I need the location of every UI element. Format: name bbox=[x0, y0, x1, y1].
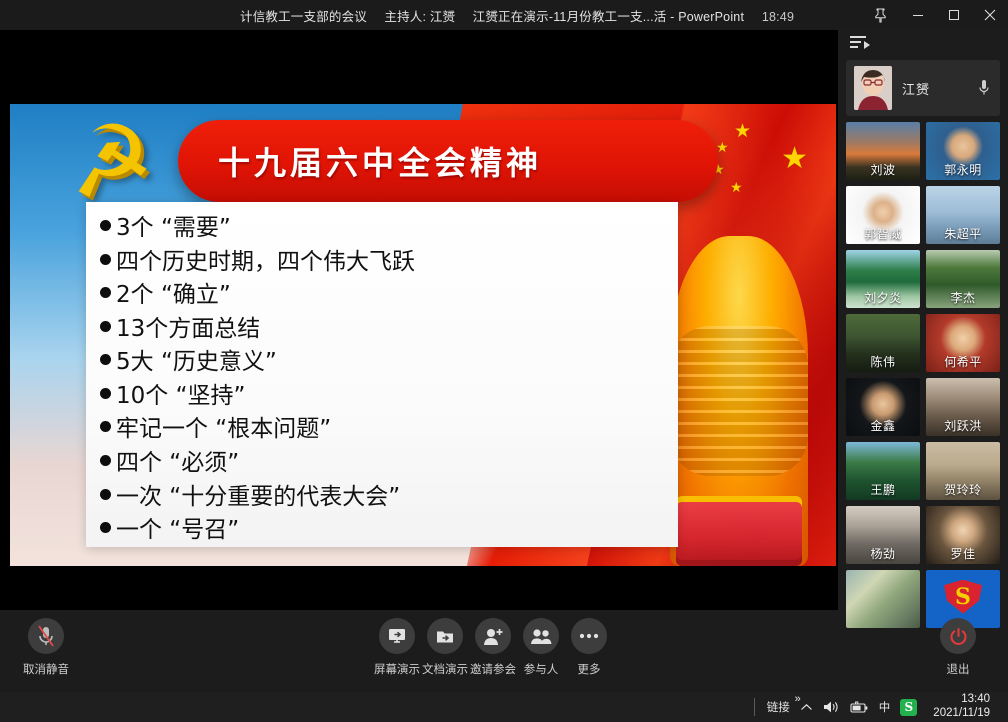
bullet-dot-icon bbox=[100, 254, 111, 265]
slide-title-banner: 十九届六中全会精神 bbox=[178, 120, 718, 202]
participant-name: 罗佳 bbox=[926, 545, 1000, 562]
share-screen-label: 屏幕演示 bbox=[374, 661, 420, 677]
minimize-icon[interactable] bbox=[900, 0, 936, 30]
list-item: 四个历史时期，四个伟大飞跃 bbox=[100, 246, 678, 280]
participant-name: 刘跃洪 bbox=[926, 417, 1000, 434]
share-document-button[interactable]: 文档演示 bbox=[428, 618, 462, 677]
taskbar-time: 13:40 bbox=[961, 693, 990, 707]
bullet-text: 10个 “坚持” bbox=[116, 380, 245, 414]
bullet-dot-icon bbox=[100, 287, 111, 298]
list-item: 牢记一个 “根本问题” bbox=[100, 413, 678, 447]
bullet-text: 牢记一个 “根本问题” bbox=[116, 413, 331, 447]
bullet-text: 四个 “必须” bbox=[116, 447, 239, 481]
bullet-dot-icon bbox=[100, 489, 111, 500]
panel-toolbar bbox=[838, 30, 1008, 56]
tiananmen-monument-graphic bbox=[670, 236, 808, 566]
shared-screen-stage[interactable]: ★ ★ ★ ★ ★ ☭ 十九届六中全会精神 3个 “需要” 四个历史时期，四个伟… bbox=[0, 30, 838, 610]
participant-name: 陈伟 bbox=[846, 353, 920, 370]
battery-icon[interactable] bbox=[850, 701, 869, 714]
bullet-dot-icon bbox=[100, 455, 111, 466]
participants-label: 参与人 bbox=[524, 661, 559, 677]
maximize-icon[interactable] bbox=[936, 0, 972, 30]
list-item: 四个 “必须” bbox=[100, 447, 678, 481]
microphone-muted-icon bbox=[28, 618, 64, 654]
active-speaker-name: 江赟 bbox=[902, 79, 930, 98]
bullet-text: 一个 “号召” bbox=[116, 514, 239, 548]
window-buttons bbox=[860, 0, 1008, 30]
participant-name: 杨劲 bbox=[846, 545, 920, 562]
title-bar: 计信教工一支部的会议 主持人: 江赟 江赟正在演示-11月份教工一支...活 -… bbox=[0, 0, 1008, 30]
invite-label: 邀请参会 bbox=[470, 661, 516, 677]
participant-name: 朱超平 bbox=[926, 225, 1000, 242]
meeting-title: 计信教工一支部的会议 主持人: 江赟 江赟正在演示-11月份教工一支...活 -… bbox=[240, 6, 794, 25]
app-name: - PowerPoint bbox=[670, 10, 744, 24]
leave-meeting-label: 退出 bbox=[947, 661, 970, 677]
bullet-dot-icon bbox=[100, 321, 111, 332]
participant-tile[interactable]: 李杰 bbox=[926, 250, 1000, 308]
volume-icon[interactable] bbox=[823, 700, 840, 714]
participant-tile[interactable]: 金鑫 bbox=[846, 378, 920, 436]
participant-tile[interactable]: 郭智威 bbox=[846, 186, 920, 244]
star-small-1: ★ bbox=[734, 122, 751, 141]
participant-name: 何希平 bbox=[926, 353, 1000, 370]
leave-meeting-button[interactable]: 退出 bbox=[923, 618, 993, 677]
sogou-glyph: S bbox=[900, 699, 917, 716]
document-share-icon bbox=[427, 618, 463, 654]
participant-name: 金鑫 bbox=[846, 417, 920, 434]
bullet-dot-icon bbox=[100, 388, 111, 399]
system-tray: 链接 » 中 bbox=[754, 693, 1008, 720]
meeting-elapsed-time: 18:49 bbox=[762, 10, 794, 24]
share-screen-button[interactable]: 屏幕演示 bbox=[380, 618, 414, 677]
list-item: 10个 “坚持” bbox=[100, 380, 678, 414]
participant-tile[interactable]: 杨劲 bbox=[846, 506, 920, 564]
star-small-2: ★ bbox=[716, 140, 729, 154]
participant-tile[interactable]: 刘跃洪 bbox=[926, 378, 1000, 436]
bullet-text: 5大 “历史意义” bbox=[116, 346, 277, 380]
participant-tile[interactable]: 刘夕炎 bbox=[846, 250, 920, 308]
star-large: ★ bbox=[781, 144, 808, 174]
more-label: 更多 bbox=[578, 661, 601, 677]
sort-list-icon[interactable] bbox=[850, 36, 870, 50]
list-item: 13个方面总结 bbox=[100, 313, 678, 347]
participants-panel: 江赟 刘波 郭永明 郭智威 朱超平 刘夕炎 李杰 陈伟 何希平 金鑫 刘跃洪 王… bbox=[838, 30, 1008, 692]
invite-person-icon bbox=[475, 618, 511, 654]
list-item: 一个 “号召” bbox=[100, 514, 678, 548]
participant-tile[interactable]: 陈伟 bbox=[846, 314, 920, 372]
microphone-icon[interactable] bbox=[978, 79, 990, 97]
more-button[interactable]: 更多 bbox=[572, 618, 606, 677]
participant-name: 王鹏 bbox=[846, 481, 920, 498]
bullet-text: 13个方面总结 bbox=[116, 313, 260, 347]
monument-rings bbox=[670, 326, 808, 476]
slide-content-card: 3个 “需要” 四个历史时期，四个伟大飞跃 2个 “确立” 13个方面总结 5大… bbox=[86, 202, 678, 547]
invite-button[interactable]: 邀请参会 bbox=[476, 618, 510, 677]
close-icon[interactable] bbox=[972, 0, 1008, 30]
show-hidden-icons-icon[interactable] bbox=[800, 703, 813, 712]
participant-tile-grid: 刘波 郭永明 郭智威 朱超平 刘夕炎 李杰 陈伟 何希平 金鑫 刘跃洪 王鹏 贺… bbox=[838, 122, 1008, 628]
mute-button[interactable]: 取消静音 bbox=[11, 618, 81, 677]
participant-tile[interactable] bbox=[846, 570, 920, 628]
center-controls: 屏幕演示 文档演示 bbox=[380, 618, 606, 677]
bullet-text: 一次 “十分重要的代表大会” bbox=[116, 481, 400, 515]
bullet-text: 2个 “确立” bbox=[116, 279, 231, 313]
slide-title: 十九届六中全会精神 bbox=[178, 138, 542, 184]
mute-button-label: 取消静音 bbox=[23, 661, 69, 677]
taskbar-links-label: 链接 bbox=[767, 699, 790, 715]
bullet-dot-icon bbox=[100, 354, 111, 365]
screen-share-icon bbox=[379, 618, 415, 654]
windows-taskbar: 链接 » 中 bbox=[0, 692, 1008, 722]
meeting-name: 计信教工一支部的会议 bbox=[240, 10, 367, 24]
bullet-dot-icon bbox=[100, 522, 111, 533]
avatar bbox=[854, 66, 892, 110]
participants-icon bbox=[523, 618, 559, 654]
pin-icon[interactable] bbox=[860, 0, 900, 30]
tray-divider bbox=[754, 698, 755, 716]
participant-tile[interactable]: 贺玲玲 bbox=[926, 442, 1000, 500]
participant-name: 贺玲玲 bbox=[926, 481, 1000, 498]
meeting-window: 计信教工一支部的会议 主持人: 江赟 江赟正在演示-11月份教工一支...活 -… bbox=[0, 0, 1008, 722]
ime-language-indicator[interactable]: 中 bbox=[879, 699, 891, 715]
meeting-host: 主持人: 江赟 bbox=[384, 10, 455, 24]
presentation-slide: ★ ★ ★ ★ ★ ☭ 十九届六中全会精神 3个 “需要” 四个历史时期，四个伟… bbox=[10, 104, 836, 566]
list-item: 2个 “确立” bbox=[100, 279, 678, 313]
bullet-dot-icon bbox=[100, 220, 111, 231]
sogou-ime-icon[interactable]: S bbox=[900, 699, 917, 716]
participant-tile[interactable]: 朱超平 bbox=[926, 186, 1000, 244]
participant-tile[interactable]: 罗佳 bbox=[926, 506, 1000, 564]
bullet-text: 四个历史时期，四个伟大飞跃 bbox=[116, 246, 415, 280]
sharing-status: 江赟正在演示-11月份教工一支...活 bbox=[473, 10, 667, 24]
bullet-text: 3个 “需要” bbox=[116, 212, 231, 246]
slide-bullet-list: 3个 “需要” 四个历史时期，四个伟大飞跃 2个 “确立” 13个方面总结 5大… bbox=[100, 212, 678, 548]
ime-label: 中 bbox=[879, 699, 891, 715]
participant-tile[interactable]: 何希平 bbox=[926, 314, 1000, 372]
taskbar-clock[interactable]: 13:40 2021/11/19 bbox=[927, 693, 1000, 720]
share-document-label: 文档演示 bbox=[422, 661, 468, 677]
power-icon bbox=[940, 618, 976, 654]
participant-name: 郭智威 bbox=[846, 225, 920, 242]
list-item: 5大 “历史意义” bbox=[100, 346, 678, 380]
participant-tile[interactable]: 郭永明 bbox=[926, 122, 1000, 180]
star-small-4: ★ bbox=[730, 180, 743, 194]
participant-tile[interactable]: 王鹏 bbox=[846, 442, 920, 500]
list-item: 一次 “十分重要的代表大会” bbox=[100, 481, 678, 515]
participant-name: 郭永明 bbox=[926, 161, 1000, 178]
participant-tile[interactable]: 刘波 bbox=[846, 122, 920, 180]
superman-logo-icon bbox=[944, 580, 982, 614]
list-item: 3个 “需要” bbox=[100, 212, 678, 246]
active-speaker-card[interactable]: 江赟 bbox=[846, 60, 1000, 116]
taskbar-links-button[interactable]: 链接 » bbox=[767, 699, 790, 715]
more-dots-icon bbox=[571, 618, 607, 654]
bullet-dot-icon bbox=[100, 421, 111, 432]
meeting-control-bar: 取消静音 屏幕演示 bbox=[0, 610, 838, 692]
overflow-chevron-icon[interactable]: » bbox=[795, 693, 801, 705]
participant-name: 刘夕炎 bbox=[846, 289, 920, 306]
taskbar-date: 2021/11/19 bbox=[933, 707, 990, 721]
participant-name: 李杰 bbox=[926, 289, 1000, 306]
participants-button[interactable]: 参与人 bbox=[524, 618, 558, 677]
participant-name: 刘波 bbox=[846, 161, 920, 178]
